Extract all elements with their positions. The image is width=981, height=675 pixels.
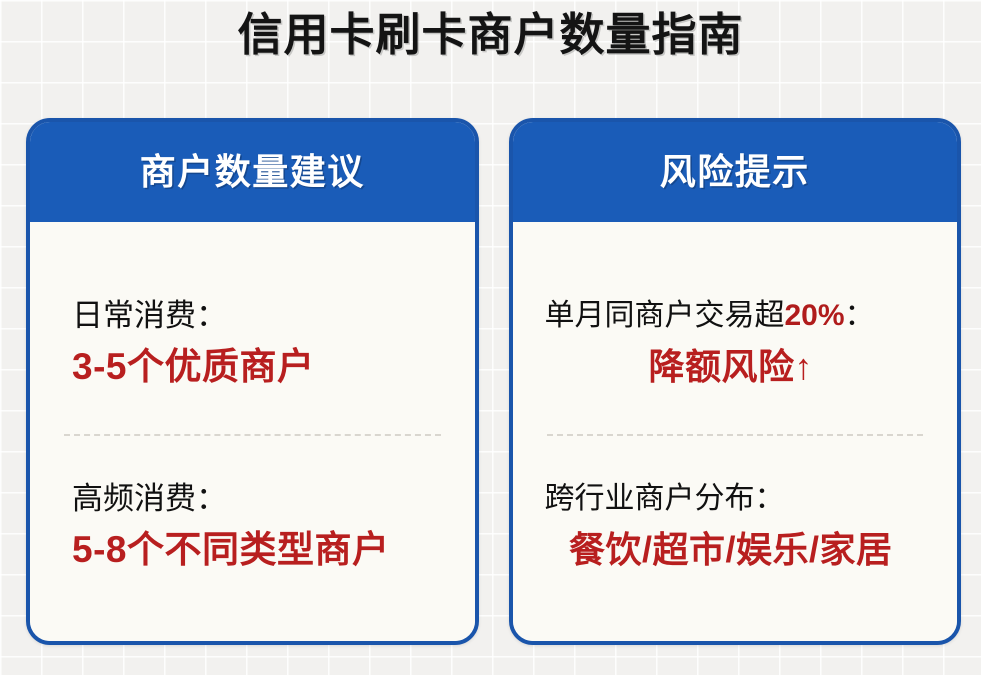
entry-label-prefix-same-merchant-ratio: 单月同商户交易超 bbox=[545, 299, 785, 332]
card-body-merchant-count-advice: 日常消费： 3-5个优质商户 高频消费： 5-8个不同类型商户 bbox=[30, 222, 475, 641]
page-title: 信用卡刷卡商户数量指南 bbox=[0, 4, 981, 66]
entry-same-merchant-ratio: 单月同商户交易超20%： 降额风险↑ bbox=[513, 252, 958, 434]
card-container: 商户数量建议 日常消费： 3-5个优质商户 高频消费： 5-8个不同类型商户 bbox=[26, 118, 961, 645]
card-title-merchant-count-advice: 商户数量建议 bbox=[140, 150, 365, 194]
entry-label-highlight-same-merchant-ratio: 20% bbox=[785, 299, 845, 332]
card-merchant-count-advice: 商户数量建议 日常消费： 3-5个优质商户 高频消费： 5-8个不同类型商户 bbox=[26, 118, 479, 645]
entry-value-same-merchant-ratio: 降额风险↑ bbox=[545, 342, 934, 392]
card-risk-warning: 风险提示 单月同商户交易超20%： 降额风险↑ 跨行业商户分布： 餐饮/超市/娱… bbox=[509, 118, 962, 645]
card-header-risk-warning: 风险提示 bbox=[513, 122, 958, 222]
infographic-canvas: 信用卡刷卡商户数量指南 商户数量建议 日常消费： 3-5个优质商户 高频消费： bbox=[0, 0, 981, 675]
entry-value-high-frequency-consumption: 5-8个不同类型商户 bbox=[72, 525, 441, 575]
entry-label-daily-consumption: 日常消费： bbox=[72, 294, 441, 338]
entry-label-text-daily-consumption: 日常消费： bbox=[72, 298, 227, 333]
entry-label-text-high-frequency-consumption: 高频消费： bbox=[72, 481, 227, 516]
card-body-risk-warning: 单月同商户交易超20%： 降额风险↑ 跨行业商户分布： 餐饮/超市/娱乐/家居 bbox=[513, 222, 958, 641]
entry-label-high-frequency-consumption: 高频消费： bbox=[72, 477, 441, 521]
entry-value-cross-industry-distribution: 餐饮/超市/娱乐/家居 bbox=[545, 525, 934, 575]
entry-label-text-cross-industry-distribution: 跨行业商户分布： bbox=[545, 482, 785, 515]
entry-daily-consumption: 日常消费： 3-5个优质商户 bbox=[30, 252, 475, 434]
entry-label-cross-industry-distribution: 跨行业商户分布： bbox=[545, 477, 934, 521]
entry-cross-industry-distribution: 跨行业商户分布： 餐饮/超市/娱乐/家居 bbox=[513, 436, 958, 618]
entry-high-frequency-consumption: 高频消费： 5-8个不同类型商户 bbox=[30, 436, 475, 618]
entry-label-same-merchant-ratio: 单月同商户交易超20%： bbox=[545, 294, 934, 338]
card-header-merchant-count-advice: 商户数量建议 bbox=[30, 122, 475, 222]
card-title-risk-warning: 风险提示 bbox=[660, 150, 810, 194]
entry-value-daily-consumption: 3-5个优质商户 bbox=[72, 342, 441, 392]
entry-label-suffix-same-merchant-ratio: ： bbox=[845, 299, 875, 332]
